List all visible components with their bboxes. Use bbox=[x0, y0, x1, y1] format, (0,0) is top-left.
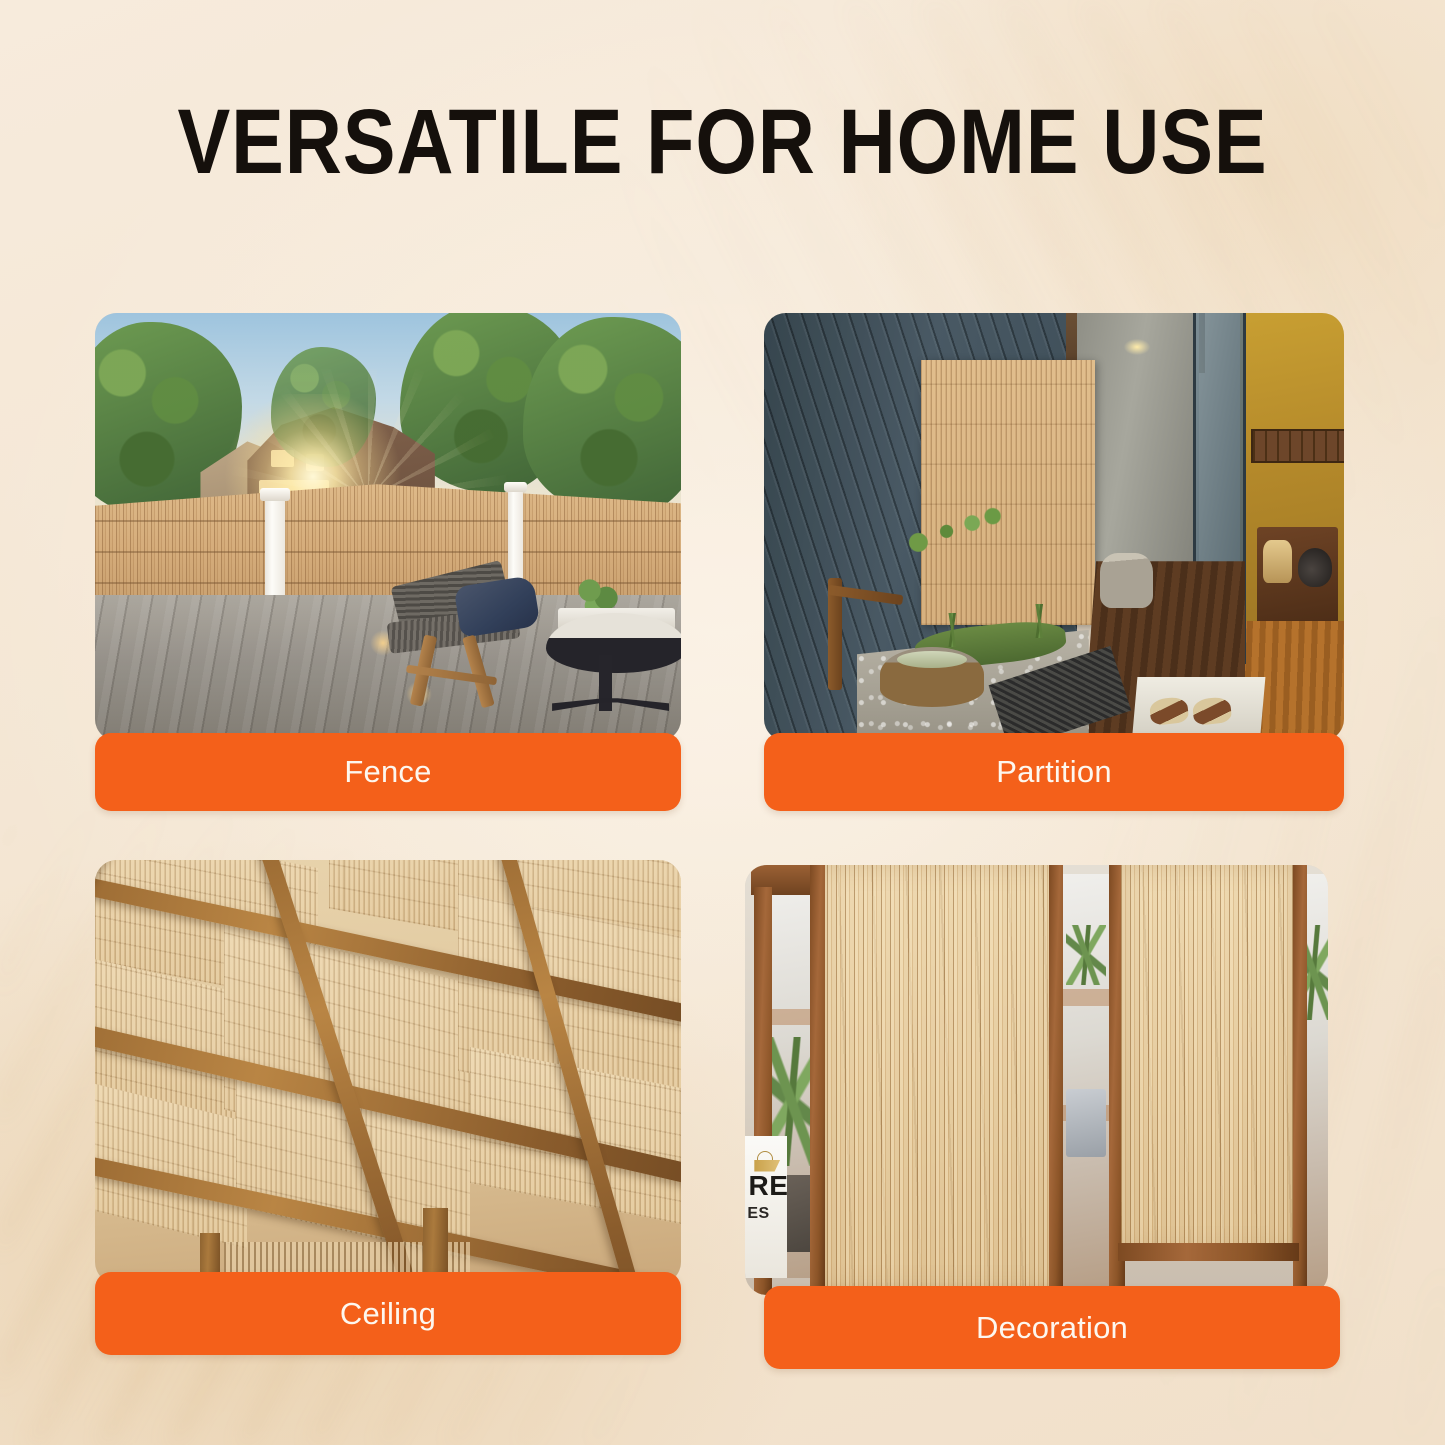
maple-branch bbox=[880, 501, 1008, 569]
stone-stool bbox=[1100, 553, 1152, 609]
door-frame bbox=[1293, 865, 1307, 1295]
balcony-chair bbox=[1066, 1089, 1107, 1158]
reed-blind bbox=[1121, 865, 1296, 1252]
photo-ceiling bbox=[95, 860, 681, 1284]
card-ceiling bbox=[95, 860, 681, 1284]
photo-decoration: RE ES bbox=[745, 865, 1328, 1295]
wall-shelf bbox=[1251, 429, 1344, 463]
hanging-plant bbox=[1066, 925, 1107, 985]
sign-text-line2: ES bbox=[747, 1205, 769, 1223]
label-ceiling[interactable]: Ceiling bbox=[95, 1272, 681, 1355]
ornamental-grass bbox=[1019, 604, 1060, 638]
iron-kettle bbox=[1298, 548, 1333, 587]
promo-graphic: VERSATILE FOR HOME USE bbox=[0, 0, 1445, 1445]
label-fence[interactable]: Fence bbox=[95, 733, 681, 811]
lounge-chair bbox=[388, 570, 570, 711]
label-partition[interactable]: Partition bbox=[764, 733, 1344, 811]
ceramic-jar bbox=[1263, 540, 1292, 583]
reed-partition-panel bbox=[921, 360, 1095, 625]
card-fence bbox=[95, 313, 681, 741]
label-decoration[interactable]: Decoration bbox=[764, 1286, 1340, 1369]
card-partition bbox=[764, 313, 1344, 741]
navy-cushion bbox=[454, 575, 541, 638]
fence-post-cap bbox=[504, 482, 527, 492]
door-frame bbox=[1049, 865, 1063, 1295]
ornamental-grass bbox=[932, 613, 973, 647]
blind-bottom-rail bbox=[1118, 1243, 1299, 1260]
photo-fence bbox=[95, 313, 681, 741]
photo-partition bbox=[764, 313, 1344, 741]
fence-post-cap bbox=[260, 488, 289, 501]
reed-blind bbox=[818, 865, 1057, 1291]
page-title: VERSATILE FOR HOME USE bbox=[101, 96, 1344, 188]
chair-leg bbox=[462, 634, 494, 708]
ceiling-light bbox=[1124, 339, 1150, 355]
sign-text-line1: RE bbox=[748, 1170, 788, 1202]
card-decoration: RE ES bbox=[745, 865, 1328, 1295]
fence-post bbox=[508, 488, 523, 582]
door-frame bbox=[810, 865, 825, 1295]
